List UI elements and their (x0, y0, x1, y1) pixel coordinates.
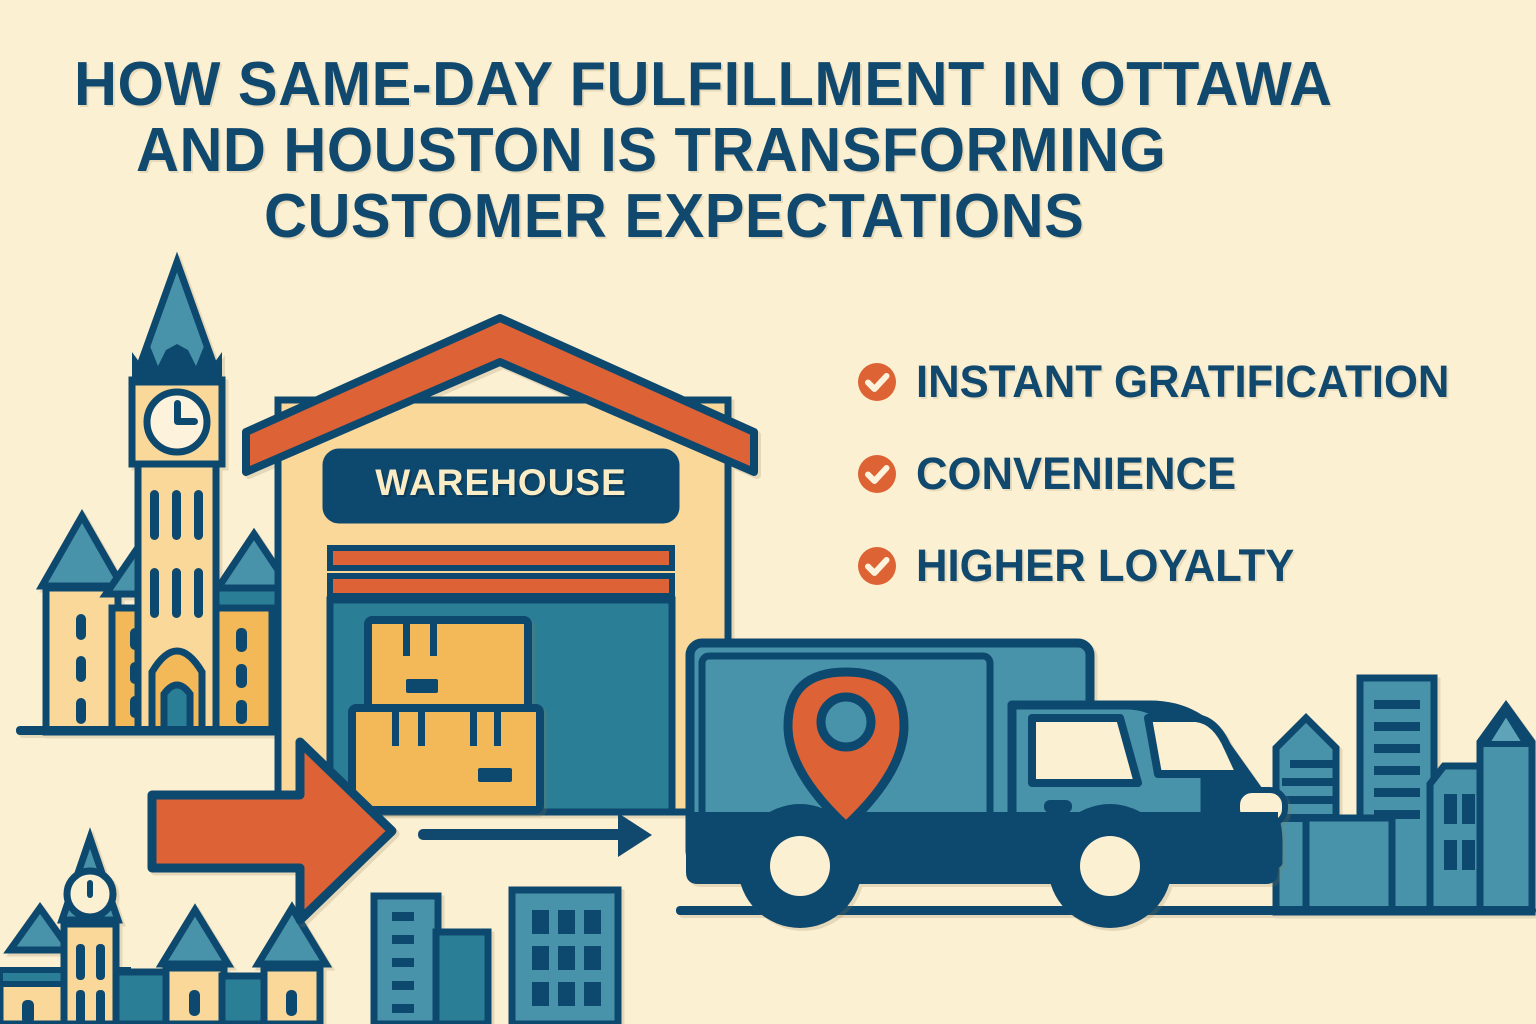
infographic-canvas: HOW SAME-DAY FULFILLMENT IN OTTAWA AND H… (0, 0, 1536, 1024)
title-line-2: AND HOUSTON IS TRANSFORMING (136, 118, 1440, 184)
benefit-item-convenience: CONVENIENCE (856, 428, 1516, 520)
benefit-item-instant-gratification: INSTANT GRATIFICATION (856, 336, 1516, 428)
benefits-list: INSTANT GRATIFICATION CONVENIENCE HIGHER… (856, 336, 1516, 612)
ground-line-left (16, 726, 288, 735)
benefit-label: HIGHER LOYALTY (916, 543, 1294, 589)
benefit-label: CONVENIENCE (916, 451, 1236, 497)
cardboard-boxes (352, 620, 540, 810)
title-line-3: CUSTOMER EXPECTATIONS (264, 184, 1445, 250)
check-circle-icon (856, 545, 898, 587)
title-line-1: HOW SAME-DAY FULFILLMENT IN OTTAWA (74, 52, 1437, 118)
check-circle-icon (856, 361, 898, 403)
page-title: HOW SAME-DAY FULFILLMENT IN OTTAWA AND H… (74, 52, 1494, 250)
benefit-item-higher-loyalty: HIGHER LOYALTY (856, 520, 1516, 612)
benefit-label: INSTANT GRATIFICATION (916, 359, 1449, 405)
check-circle-icon (856, 453, 898, 495)
